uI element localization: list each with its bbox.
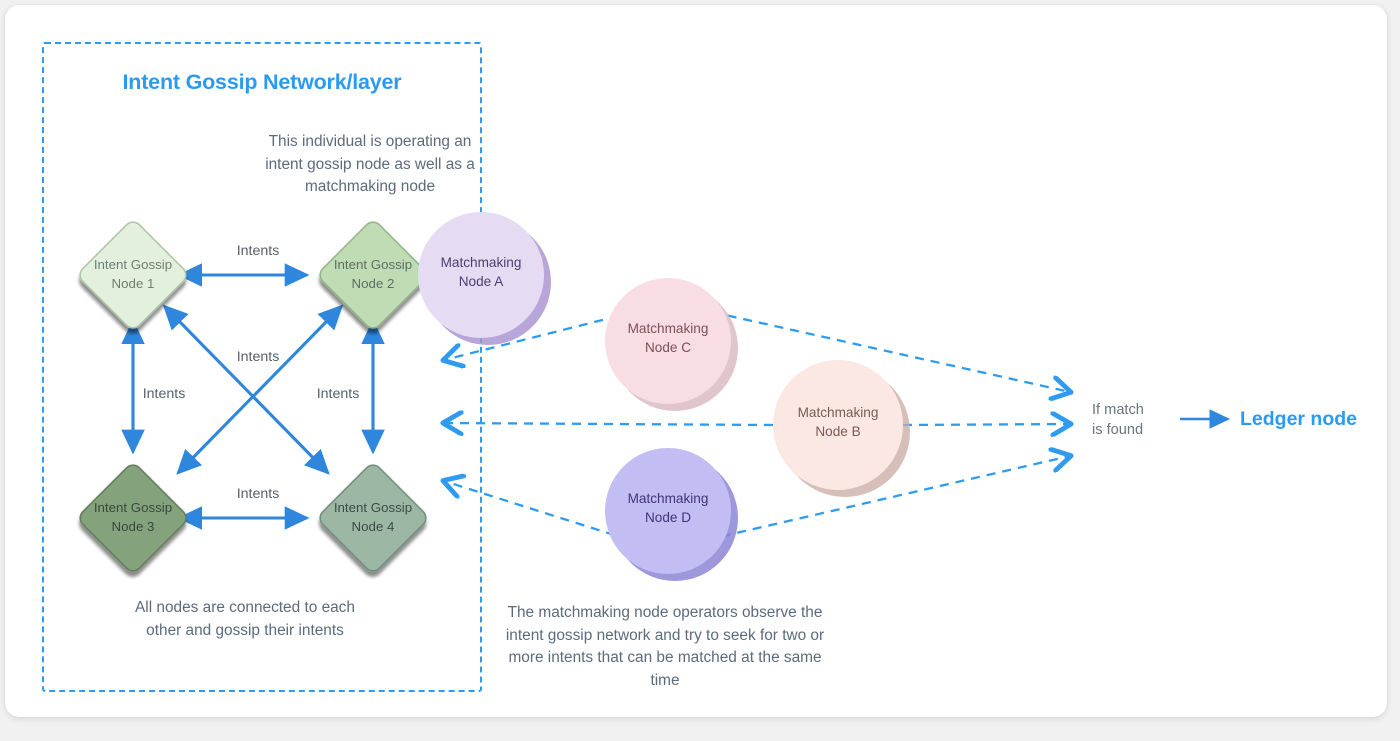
edge-label-diagonal: Intents (208, 349, 308, 365)
matchmaking-nodes (418, 212, 910, 581)
edge-label-node3-node4: Intents (208, 486, 308, 502)
arrow-nodeB-to-match (903, 424, 1070, 425)
diagram-graphics (0, 0, 1400, 741)
node-matchmaking-a[interactable] (418, 212, 544, 338)
edge-label-node2-node4: Intents (288, 386, 388, 402)
diagram-stage: Intent Gossip Network/layer This individ… (0, 0, 1400, 741)
edge-label-node1-node3: Intents (114, 386, 214, 402)
node-matchmaking-d[interactable] (605, 448, 731, 574)
edge-label-node1-node2: Intents (208, 243, 308, 259)
node-intent-gossip-1[interactable] (76, 218, 189, 331)
node-intent-gossip-2[interactable] (316, 218, 429, 331)
node-matchmaking-c[interactable] (605, 278, 731, 404)
arrow-nodeC-to-match (712, 312, 1070, 392)
arrow-nodeB-to-network (444, 423, 773, 425)
node-intent-gossip-3[interactable] (76, 461, 189, 574)
if-match-condition: If match is found (1092, 400, 1172, 440)
arrow-nodeD-to-network (444, 481, 630, 540)
node-matchmaking-b[interactable] (773, 360, 903, 490)
ledger-node-label: Ledger node (1240, 408, 1357, 431)
node-intent-gossip-4[interactable] (316, 461, 429, 574)
